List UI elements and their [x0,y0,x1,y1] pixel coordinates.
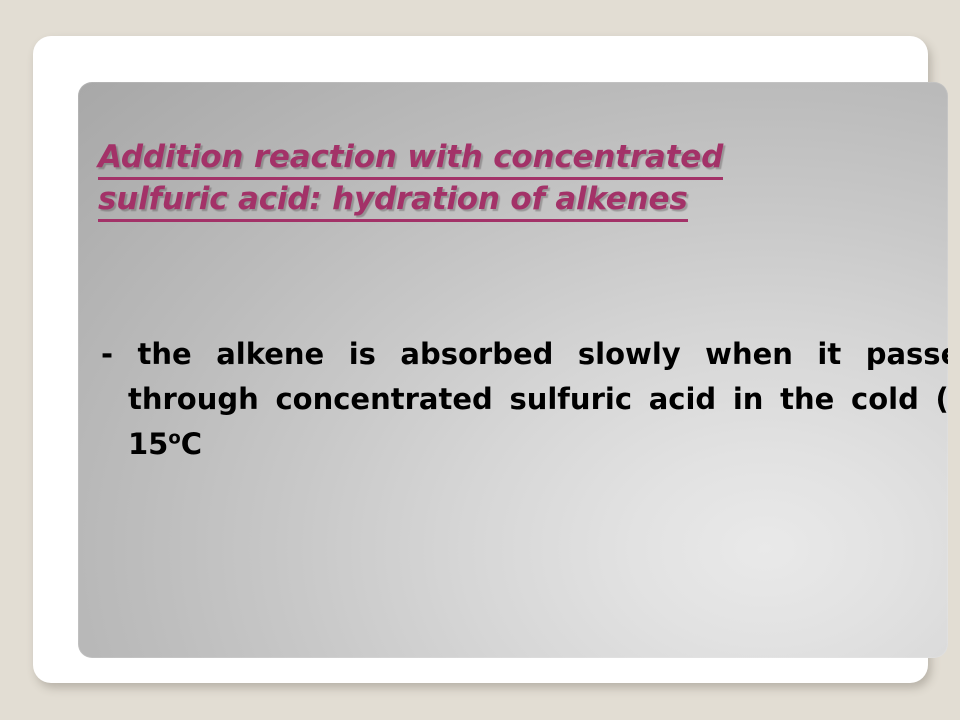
slide-title-line-1: Addition reaction with concentrated [98,138,913,180]
bullet-marker: - [101,337,113,371]
slide-canvas: Addition reaction with concentrated sulf… [78,82,948,658]
slide-frame: Addition reaction with concentrated sulf… [33,36,928,683]
slide-title-line-1-text: Addition reaction with concentrated [98,138,723,180]
degree-superscript: o [168,427,180,448]
body-text-main: the alkene is absorbed slowly when it pa… [113,337,948,461]
slide-body-paragraph: - the alkene is absorbed slowly when it … [101,332,948,512]
slide-title: Addition reaction with concentrated sulf… [98,138,913,222]
body-text-tail: C [181,427,202,461]
slide-title-line-2-text: sulfuric acid: hydration of alkenes [98,180,688,222]
slide-title-line-2: sulfuric acid: hydration of alkenes [98,180,913,222]
